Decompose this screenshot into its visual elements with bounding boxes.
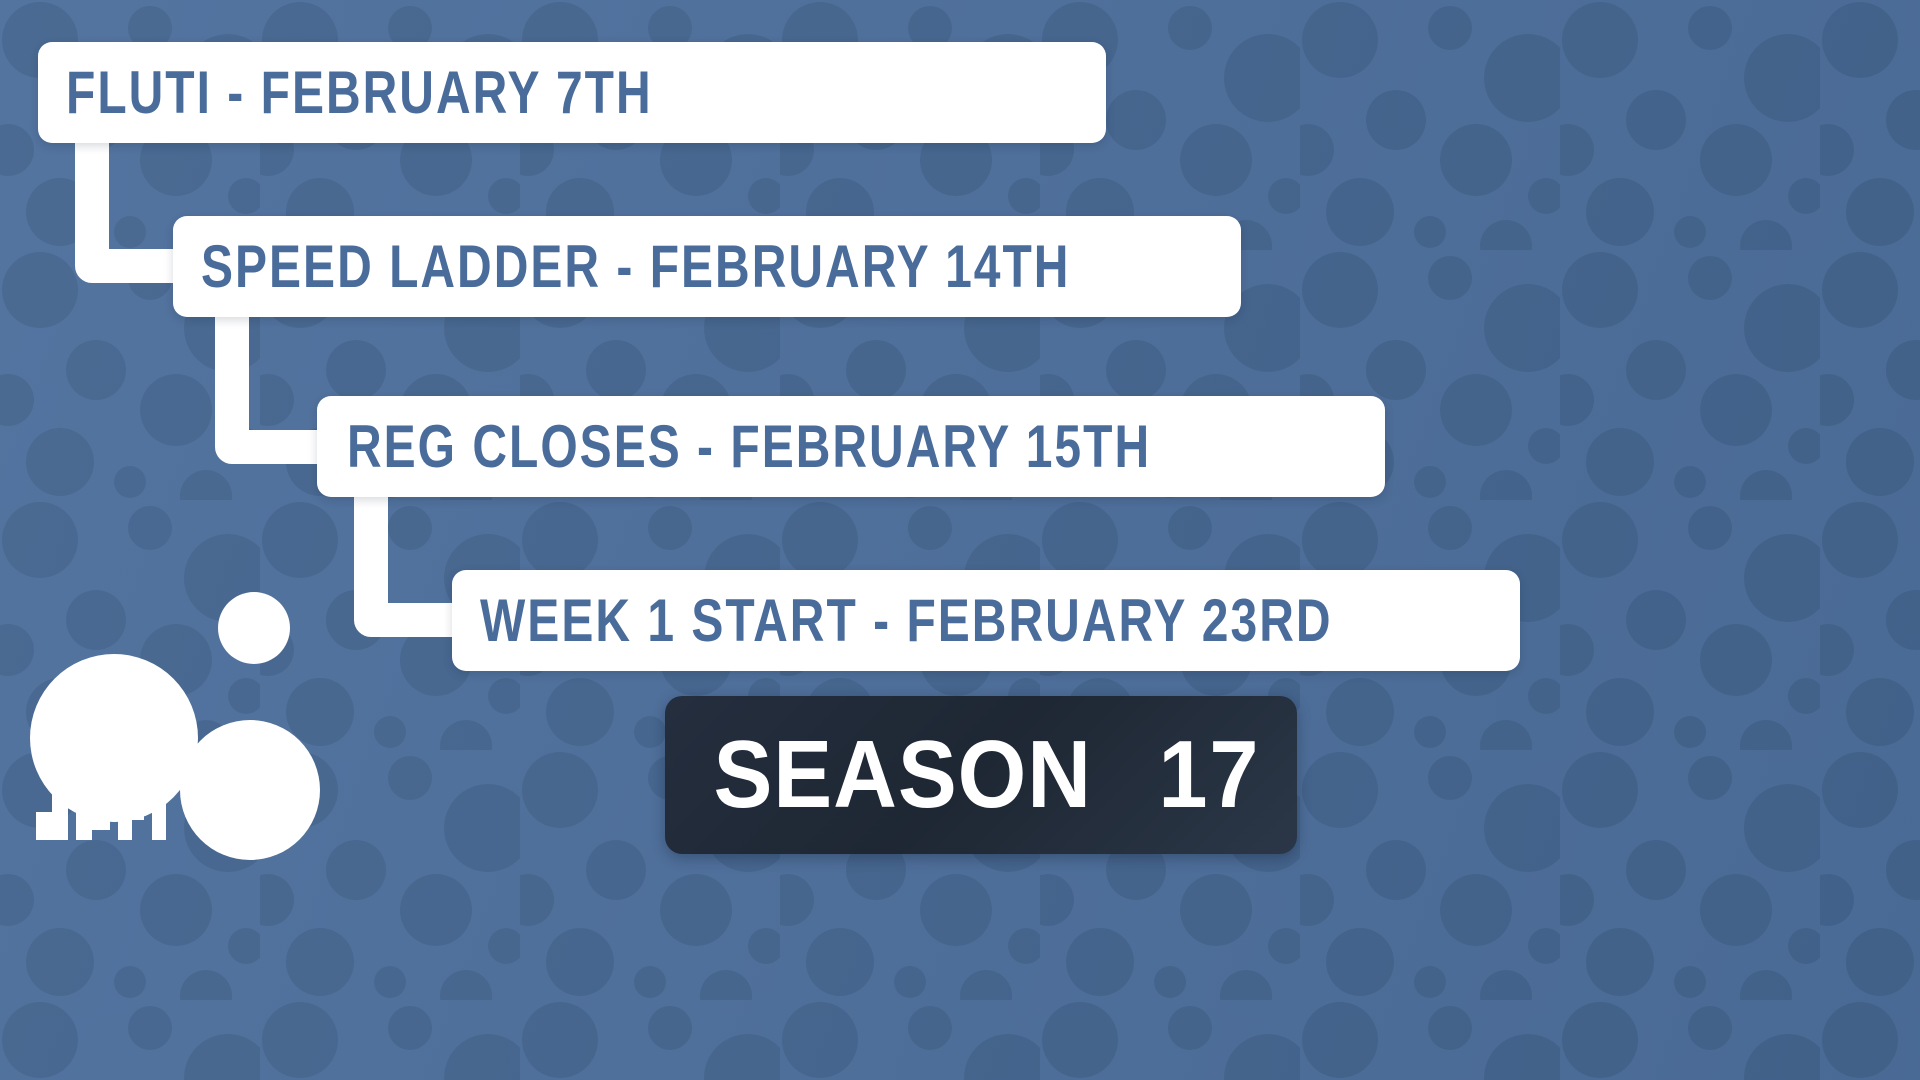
timeline-bar-speed-ladder[interactable]: SPEED LADDER - FEBRUARY 14TH [173, 216, 1241, 317]
brand-logo[interactable] [28, 592, 318, 862]
timeline-bar-week-1-start[interactable]: WEEK 1 START - FEBRUARY 23RD [452, 570, 1520, 671]
timeline-connectors [0, 0, 1920, 1080]
poster-canvas: FLUTI - FEBRUARY 7TH SPEED LADDER - FEBR… [0, 0, 1920, 1080]
logo-wordmark-icon [36, 778, 166, 840]
timeline-bar-label: REG CLOSES - FEBRUARY 15TH [347, 417, 1151, 477]
timeline-bar-label: FLUTI - FEBRUARY 7TH [66, 63, 653, 123]
timeline-bar-reg-closes[interactable]: REG CLOSES - FEBRUARY 15TH [317, 396, 1385, 497]
season-badge-number: 17 [1159, 727, 1261, 823]
timeline-bar-label: SPEED LADDER - FEBRUARY 14TH [201, 237, 1070, 297]
season-badge: SEASON 17 [665, 696, 1297, 854]
timeline-bar-label: WEEK 1 START - FEBRUARY 23RD [480, 591, 1333, 651]
logo-small-circle-icon [218, 592, 290, 664]
season-badge-word: SEASON [713, 727, 1092, 823]
logo-medium-circle-icon [180, 720, 320, 860]
timeline-bar-fluti[interactable]: FLUTI - FEBRUARY 7TH [38, 42, 1106, 143]
